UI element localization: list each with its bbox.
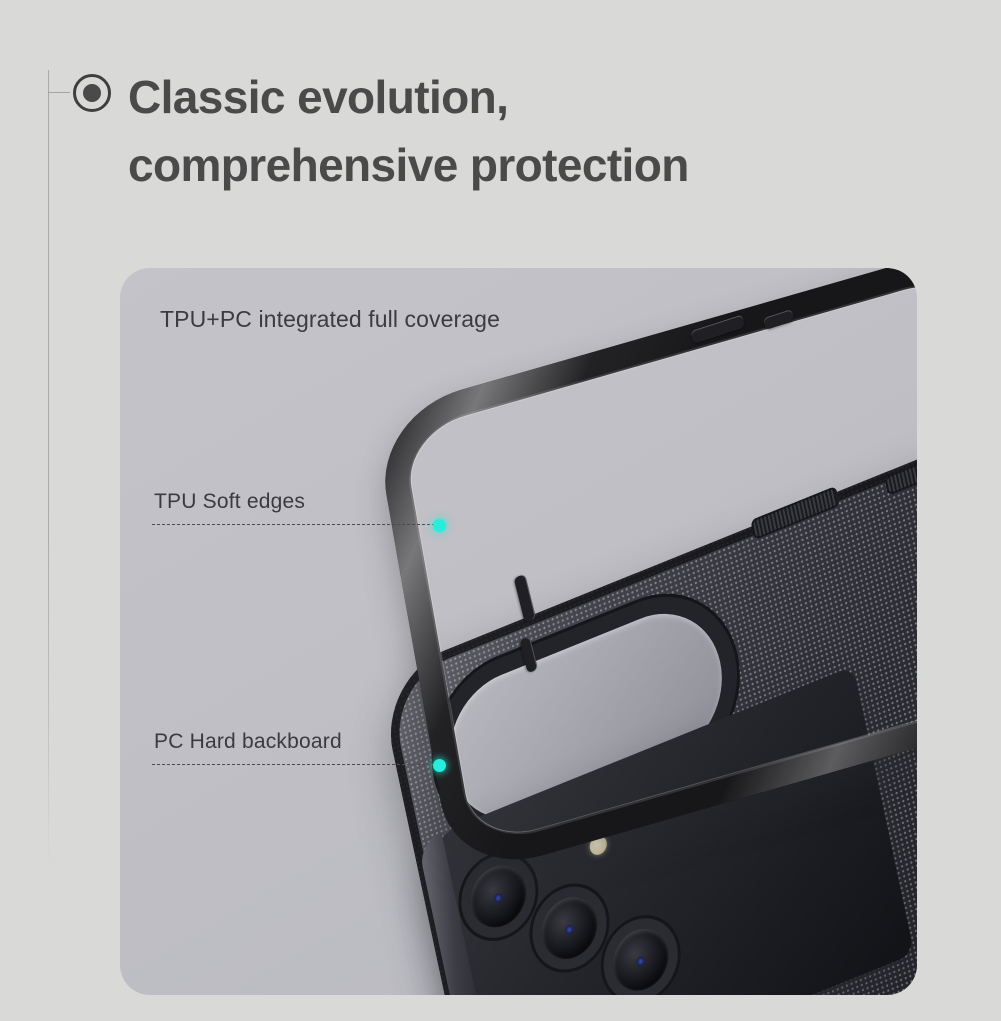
left-tick-mark	[48, 92, 70, 93]
left-vertical-rule	[48, 70, 49, 870]
leader-endpoint-dot	[433, 759, 446, 772]
product-photo	[120, 268, 917, 995]
product-feature-page: Classic evolution, comprehensive protect…	[0, 0, 1001, 1021]
leader-dashed-line	[152, 764, 440, 765]
callout-tpu-soft-edges: TPU Soft edges	[152, 490, 440, 530]
leader-dashed-line	[152, 524, 440, 525]
product-card: TPU+PC integrated full coverage	[120, 268, 917, 995]
leader-line-group	[152, 520, 440, 530]
callout-label: PC Hard backboard	[154, 730, 440, 754]
leader-line-group	[152, 760, 440, 770]
callout-label: TPU Soft edges	[154, 490, 440, 514]
leader-endpoint-dot	[433, 519, 446, 532]
camera-lens-3	[608, 920, 674, 995]
camera-lens-2	[537, 888, 603, 967]
callout-pc-hard-backboard: PC Hard backboard	[152, 730, 440, 770]
page-title: Classic evolution, comprehensive protect…	[128, 63, 948, 199]
target-ring-icon	[72, 73, 112, 113]
